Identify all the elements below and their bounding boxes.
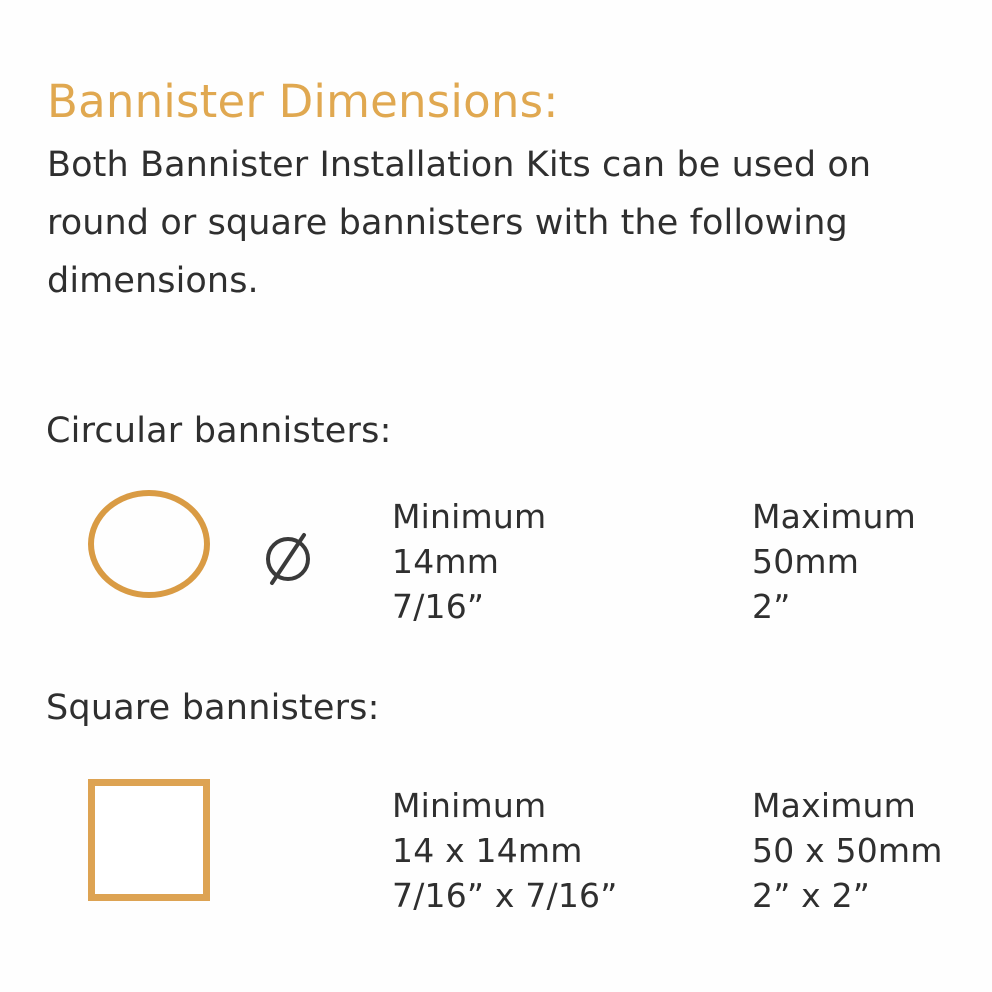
- measurement-metric: 14mm: [392, 539, 546, 584]
- square-outline-icon: [88, 779, 210, 901]
- measurement-label: Maximum: [752, 494, 916, 539]
- measurement-column-maximum-square: Maximum 50 x 50mm 2” x 2”: [752, 783, 943, 918]
- diameter-symbol-icon: [258, 523, 318, 595]
- square-shape-container: [88, 779, 210, 901]
- measurement-metric: 50 x 50mm: [752, 828, 943, 873]
- measurement-label: Minimum: [392, 494, 546, 539]
- measurement-column-minimum-square: Minimum 14 x 14mm 7/16” x 7/16”: [392, 783, 618, 918]
- measurement-imperial: 2”: [752, 584, 916, 629]
- section-heading-circular: Circular bannisters:: [46, 410, 392, 452]
- measurement-label: Minimum: [392, 783, 618, 828]
- measurement-label: Maximum: [752, 783, 943, 828]
- measurement-metric: 14 x 14mm: [392, 828, 618, 873]
- page-title: Bannister Dimensions:: [47, 74, 967, 130]
- intro-paragraph: Both Bannister Installation Kits can be …: [47, 130, 957, 310]
- measurement-metric: 50mm: [752, 539, 916, 584]
- measurement-column-maximum-circular: Maximum 50mm 2”: [752, 494, 916, 629]
- measurement-imperial: 7/16”: [392, 584, 546, 629]
- measurement-column-minimum-circular: Minimum 14mm 7/16”: [392, 494, 546, 629]
- circle-outline-icon: [88, 490, 210, 598]
- measurement-imperial: 2” x 2”: [752, 873, 943, 918]
- intro-block: Bannister Dimensions: Both Bannister Ins…: [47, 74, 967, 310]
- measurement-imperial: 7/16” x 7/16”: [392, 873, 618, 918]
- circle-shape-container: [88, 490, 210, 598]
- section-heading-square: Square bannisters:: [46, 687, 380, 729]
- document-page: Bannister Dimensions: Both Bannister Ins…: [0, 0, 992, 992]
